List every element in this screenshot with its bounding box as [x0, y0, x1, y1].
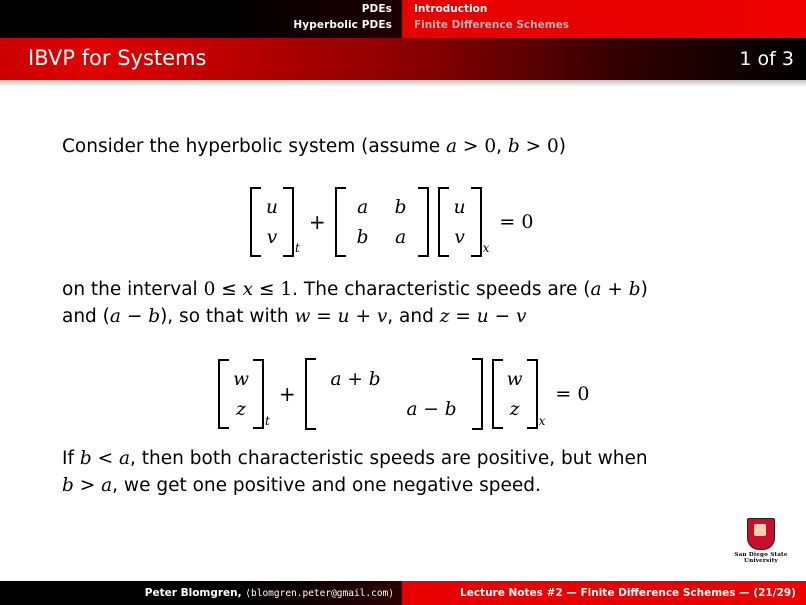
bracket-right-icon — [255, 359, 264, 429]
header-right-line1: Introduction — [414, 3, 487, 15]
eq1-operator: + — [309, 210, 326, 234]
eq2-vector-left-subscript: t — [265, 414, 270, 430]
university-logo: San Diego State University — [730, 518, 792, 568]
eq2-vr-0: w — [501, 369, 529, 390]
footer-author: Peter Blomgren, ⟨blomgren.peter@gmail.co… — [145, 587, 394, 599]
eq1-m-00: a — [344, 197, 382, 218]
bracket-left-icon — [492, 359, 501, 429]
eq2-vl-1: z — [227, 399, 255, 420]
bracket-left-icon — [305, 358, 314, 430]
header-left-section[interactable]: PDEs Hyperbolic PDEs — [0, 0, 402, 38]
footer-author-name: Peter Blomgren, — [145, 587, 242, 599]
header-left-line1: PDEs — [362, 3, 392, 15]
shield-icon — [747, 518, 775, 550]
header-left-line2: Hyperbolic PDEs — [293, 19, 392, 31]
footer-bar: Peter Blomgren, ⟨blomgren.peter@gmail.co… — [0, 581, 806, 605]
header-bar: PDEs Hyperbolic PDEs Introduction Finite… — [0, 0, 806, 38]
paragraph-intro: Consider the hyperbolic system (assume a… — [62, 133, 566, 160]
footer-left-section: Peter Blomgren, ⟨blomgren.peter@gmail.co… — [0, 581, 402, 605]
footer-author-email[interactable]: ⟨blomgren.peter@gmail.com⟩ — [245, 588, 394, 599]
bracket-right-icon — [420, 187, 429, 257]
title-bar-shadow — [0, 80, 806, 87]
page-title: IBVP for Systems — [28, 46, 206, 70]
slide: PDEs Hyperbolic PDEs Introduction Finite… — [0, 0, 806, 605]
eq2-vector-right: w z — [492, 359, 538, 429]
eq2-vector-left: w z — [218, 359, 264, 429]
paragraph-conclusion-line1: If b < a, then both characteristic speed… — [62, 445, 648, 472]
eq1-m-10: b — [344, 227, 382, 248]
slide-body: Consider the hyperbolic system (assume a… — [0, 95, 806, 575]
eq1-m-01: b — [382, 197, 420, 218]
eq1-rhs: = 0 — [499, 211, 533, 233]
bracket-left-icon — [250, 187, 259, 257]
eq1-m-11: a — [382, 227, 420, 248]
eq2-rhs: = 0 — [555, 383, 589, 405]
eq2-m-11: a − b — [394, 399, 470, 420]
eq1-vector-right-subscript: x — [483, 241, 490, 257]
paragraph-interval-line2: and (a − b), so that with w = u + v, and… — [62, 303, 526, 330]
eq1-matrix: a b b a — [335, 187, 429, 257]
eq1-vector-left: u v — [250, 187, 294, 257]
bracket-right-icon — [529, 359, 538, 429]
eq2-vr-1: z — [501, 399, 529, 420]
equation-2: w z t + a + b a − b — [218, 358, 589, 430]
paragraph-interval-line1: on the interval 0 ≤ x ≤ 1. The character… — [62, 276, 648, 303]
eq1-vr-1: v — [447, 227, 473, 248]
eq1-vl-1: v — [259, 227, 285, 248]
eq1-vector-right: u v — [438, 187, 482, 257]
eq2-vl-0: w — [227, 369, 255, 390]
bracket-left-icon — [218, 359, 227, 429]
bracket-left-icon — [438, 187, 447, 257]
eq2-vector-right-subscript: x — [539, 414, 546, 430]
bracket-left-icon — [335, 187, 344, 257]
title-bar: IBVP for Systems 1 of 3 — [0, 38, 806, 80]
bracket-right-icon — [285, 187, 294, 257]
eq1-vl-0: u — [259, 197, 285, 218]
footer-lecture-info: Lecture Notes #2 — Finite Difference Sch… — [460, 587, 796, 599]
eq1-vr-0: u — [447, 197, 473, 218]
footer-right-section: Lecture Notes #2 — Finite Difference Sch… — [402, 581, 806, 605]
eq2-operator: + — [279, 382, 296, 406]
header-right-section[interactable]: Introduction Finite Difference Schemes — [402, 0, 806, 38]
eq2-matrix: a + b a − b — [305, 358, 483, 430]
equation-1: u v t + a b b a — [250, 187, 533, 257]
slide-counter: 1 of 3 — [739, 48, 794, 70]
eq1-vector-left-subscript: t — [295, 241, 300, 257]
header-right-line2: Finite Difference Schemes — [414, 19, 569, 31]
paragraph-conclusion-line2: b > a, we get one positive and one negat… — [62, 472, 541, 499]
bracket-right-icon — [474, 358, 483, 430]
eq2-m-00: a + b — [318, 369, 394, 390]
logo-line2: University — [730, 558, 792, 564]
bracket-right-icon — [473, 187, 482, 257]
